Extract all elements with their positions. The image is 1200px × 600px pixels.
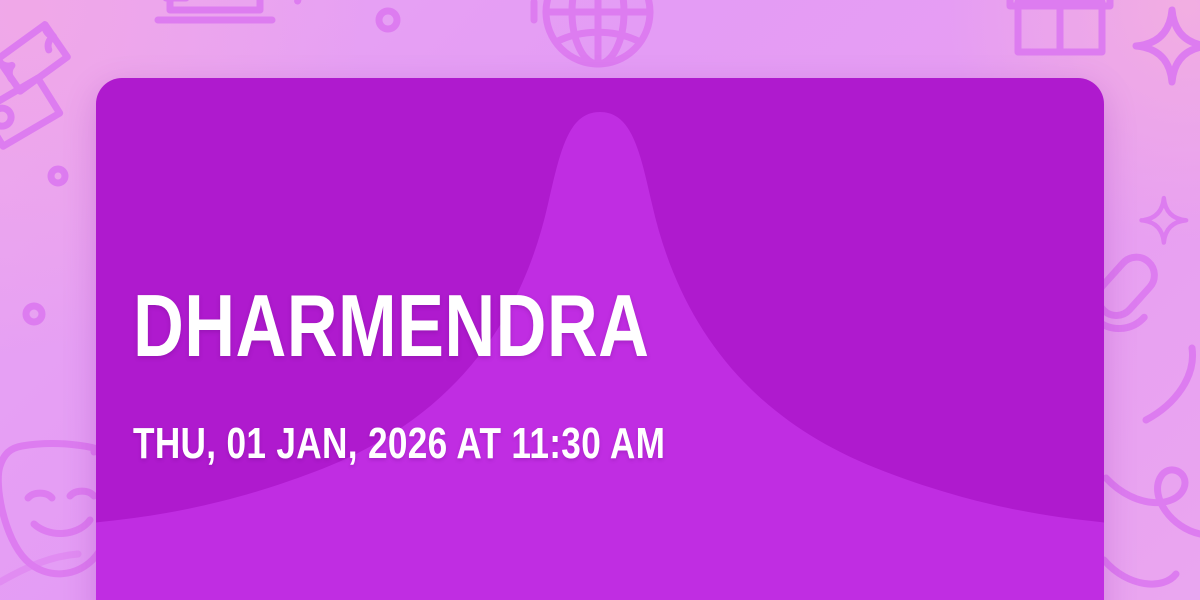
event-card-text: Dharmendra Thu, 01 Jan, 2026 at 11:30 AM <box>133 78 993 600</box>
swirl-line-icon <box>1104 348 1200 584</box>
confetti-dot-icon <box>379 11 397 29</box>
confetti-dot-icon <box>26 306 42 322</box>
event-card[interactable]: Dharmendra Thu, 01 Jan, 2026 at 11:30 AM <box>96 78 1104 600</box>
sparkle-icon <box>1136 10 1200 82</box>
event-datetime: Thu, 01 Jan, 2026 at 11:30 AM <box>133 422 665 466</box>
laptop-icon <box>265 0 306 1</box>
laptop-icon <box>158 0 272 20</box>
globe-icon <box>546 0 650 64</box>
event-card-screen: Dharmendra Thu, 01 Jan, 2026 at 11:30 AM <box>0 0 1200 600</box>
sparkle-icon <box>1142 198 1187 243</box>
confetti-dot-icon <box>51 169 65 183</box>
event-title: Dharmendra <box>133 282 649 370</box>
gift-icon <box>1010 0 1110 52</box>
ticket-icon <box>0 21 73 94</box>
